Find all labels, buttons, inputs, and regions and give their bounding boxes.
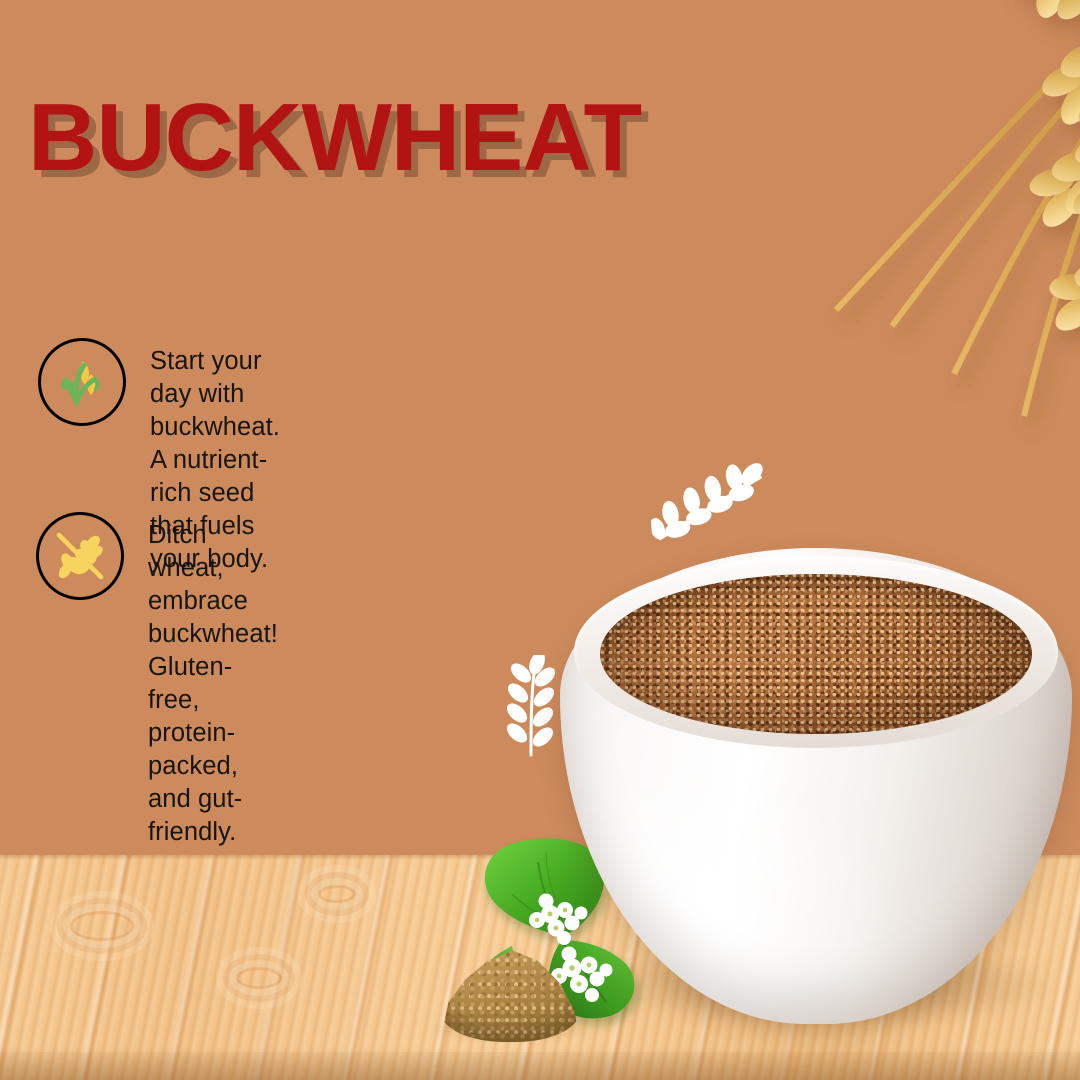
- wheat-sprig-diagonal-icon: [647, 461, 772, 549]
- feature-item-gluten-free: Ditch wheat, embrace buckwheat! Gluten-f…: [36, 512, 278, 849]
- buckwheat-groats: [600, 574, 1032, 734]
- wood-knot-swirl: [318, 885, 356, 903]
- wheat-sprig-vertical-icon: [497, 655, 569, 760]
- groat-vignette: [600, 574, 1032, 734]
- gluten-free-icon: [36, 512, 124, 600]
- wood-knot-swirl: [236, 967, 282, 989]
- wood-knot-swirl: [70, 911, 134, 941]
- grain-plant-icon: [38, 338, 126, 426]
- wheat-ears-photo: [686, 0, 1080, 514]
- poster-canvas: BUCKWHEAT: [0, 0, 1080, 1080]
- white-ceramic-bowl: [560, 548, 1080, 1053]
- feature-text: Ditch wheat, embrace buckwheat! Gluten-f…: [148, 512, 278, 849]
- page-title: BUCKWHEAT: [28, 90, 641, 186]
